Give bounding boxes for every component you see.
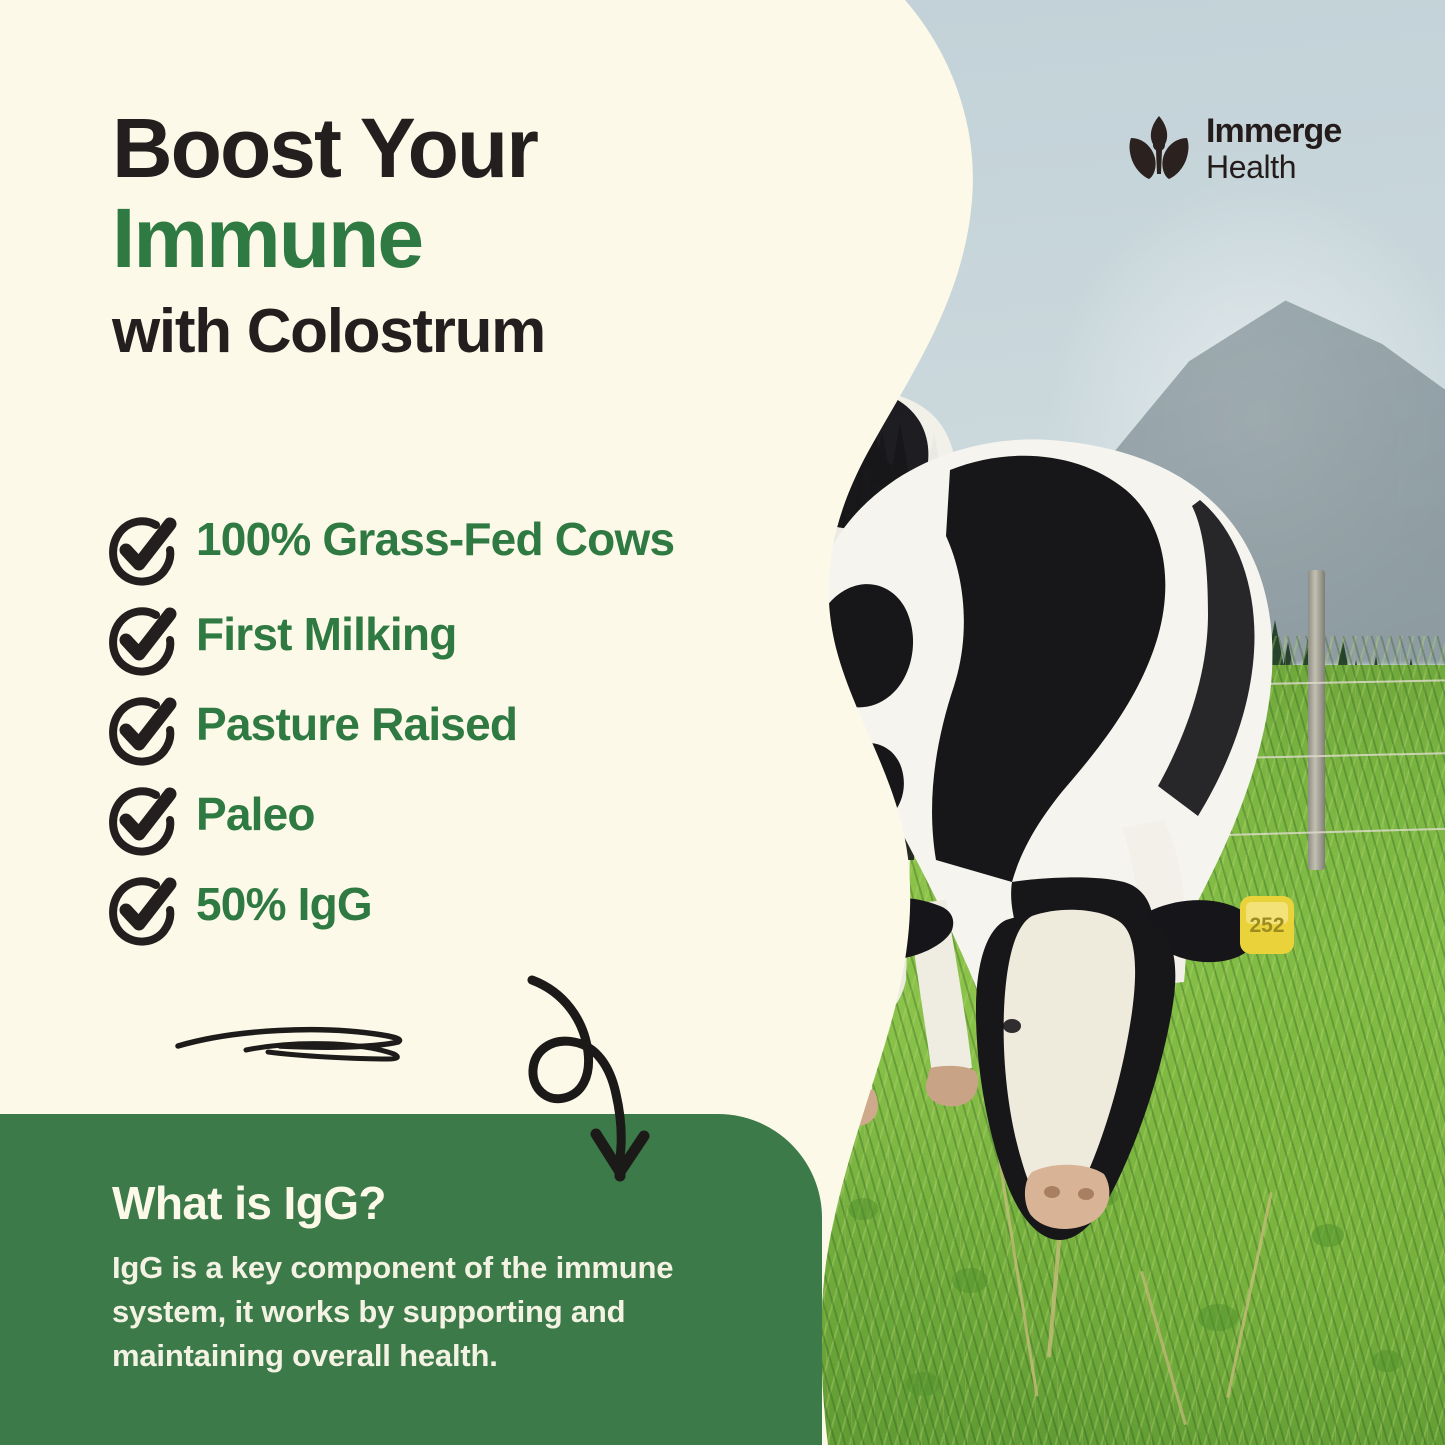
hand-drawn-underline-icon xyxy=(172,1012,432,1084)
feature-label: 50% IgG xyxy=(196,874,372,928)
cow-muzzle xyxy=(1025,1165,1109,1229)
feature-item-pasture-raised: Pasture Raised xyxy=(104,694,804,768)
logo-name-top: Immerge xyxy=(1206,114,1341,148)
headline-line-3: with Colostrum xyxy=(112,298,792,366)
check-circle-icon xyxy=(104,604,182,678)
check-circle-icon xyxy=(104,784,182,858)
feature-label: Pasture Raised xyxy=(196,694,517,748)
logo-wordmark: Immerge Health xyxy=(1206,114,1341,183)
feature-list: 100% Grass-Fed Cows First Milking Pastur… xyxy=(104,514,804,964)
headline-line-2: Immune xyxy=(112,194,792,284)
logo-name-bottom: Health xyxy=(1206,151,1341,183)
clover-leaf xyxy=(1372,1350,1402,1372)
feature-item-first-milking: First Milking xyxy=(104,604,804,678)
cow-nostril xyxy=(1078,1188,1094,1200)
check-circle-icon xyxy=(104,874,182,948)
check-circle-icon xyxy=(104,694,182,768)
svg-text:252: 252 xyxy=(1249,914,1284,937)
left-content: Boost Your Immune with Colostrum 100% Gr… xyxy=(0,0,820,1445)
feature-item-grass-fed: 100% Grass-Fed Cows xyxy=(104,514,804,588)
feature-label: 100% Grass-Fed Cows xyxy=(196,514,674,563)
feature-item-igg: 50% IgG xyxy=(104,874,804,948)
looping-arrow-icon xyxy=(492,958,682,1190)
leaf-person-icon xyxy=(1128,112,1190,184)
check-circle-icon xyxy=(104,514,182,588)
headline-line-1: Boost Your xyxy=(112,104,792,194)
feature-item-paleo: Paleo xyxy=(104,784,804,858)
cow-nostril xyxy=(1044,1186,1060,1198)
infographic-canvas: 252 What is IgG? IgG is a key component … xyxy=(0,0,1445,1445)
feature-label: First Milking xyxy=(196,604,457,658)
ear-tag: 252 xyxy=(1240,896,1294,954)
feature-label: Paleo xyxy=(196,784,315,838)
headline-block: Boost Your Immune with Colostrum xyxy=(112,104,792,366)
brand-logo[interactable]: Immerge Health xyxy=(1128,112,1341,184)
